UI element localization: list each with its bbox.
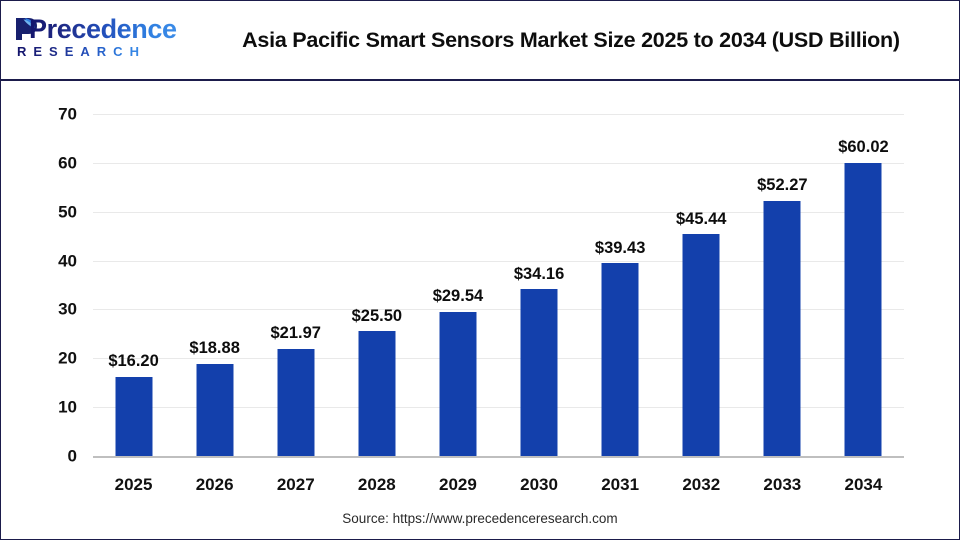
bar[interactable] <box>439 312 476 456</box>
y-axis-tick-20: 20 <box>23 350 77 367</box>
bar-value-label: $18.88 <box>189 340 239 357</box>
bar[interactable] <box>358 331 395 456</box>
bar-group: $29.54 <box>417 312 498 456</box>
y-axis-tick-50: 50 <box>23 203 77 220</box>
bar-value-label: $29.54 <box>433 288 483 305</box>
x-axis-tick-2033: 2033 <box>763 476 801 493</box>
bar[interactable] <box>845 163 882 456</box>
bar-value-label: $34.16 <box>514 266 564 283</box>
y-axis-tick-60: 60 <box>23 154 77 171</box>
bar-group: $21.97 <box>255 349 336 456</box>
x-axis-tick-2025: 2025 <box>115 476 153 493</box>
y-axis-tick-70: 70 <box>23 106 77 123</box>
y-axis-tick-0: 0 <box>23 448 77 465</box>
bar-value-label: $16.20 <box>108 353 158 370</box>
bar-value-label: $60.02 <box>838 139 888 156</box>
plot-area: 010203040506070 $16.202025$18.882026$21.… <box>1 81 959 539</box>
bar-group: $16.20 <box>93 377 174 456</box>
bar-group: $45.44 <box>661 234 742 456</box>
bar-group: $39.43 <box>580 263 661 456</box>
chart-image: Precedence RESEARCH Asia Pacific Smart S… <box>0 0 960 540</box>
bar-value-label: $52.27 <box>757 177 807 194</box>
y-axis: 010203040506070 <box>21 81 77 539</box>
bar-value-label: $39.43 <box>595 240 645 257</box>
bar[interactable] <box>602 263 639 456</box>
x-axis-tick-2034: 2034 <box>845 476 883 493</box>
bar[interactable] <box>115 377 152 456</box>
x-axis-tick-2029: 2029 <box>439 476 477 493</box>
bar-value-label: $21.97 <box>271 325 321 342</box>
bar-group: $25.50 <box>336 331 417 456</box>
bar-series: $16.202025$18.882026$21.972027$25.502028… <box>93 81 904 539</box>
x-axis-tick-2027: 2027 <box>277 476 315 493</box>
logo-wordmark: Precedence <box>29 13 177 45</box>
bar-group: $18.88 <box>174 364 255 456</box>
y-axis-tick-10: 10 <box>23 399 77 416</box>
y-axis-tick-40: 40 <box>23 252 77 269</box>
x-axis-tick-2031: 2031 <box>601 476 639 493</box>
bar[interactable] <box>196 364 233 456</box>
precedence-research-logo: Precedence RESEARCH <box>13 13 173 65</box>
chart-header: Precedence RESEARCH Asia Pacific Smart S… <box>1 1 959 81</box>
bar-value-label: $25.50 <box>352 308 402 325</box>
source-caption: Source: https://www.precedenceresearch.c… <box>1 511 959 526</box>
x-axis-tick-2032: 2032 <box>682 476 720 493</box>
x-axis-tick-2028: 2028 <box>358 476 396 493</box>
bar[interactable] <box>521 289 558 456</box>
chart-title: Asia Pacific Smart Sensors Market Size 2… <box>206 1 936 79</box>
x-axis-tick-2026: 2026 <box>196 476 234 493</box>
logo-subtitle: RESEARCH <box>17 44 146 60</box>
bar[interactable] <box>764 201 801 456</box>
bar-value-label: $45.44 <box>676 211 726 228</box>
bar[interactable] <box>683 234 720 456</box>
bar-group: $34.16 <box>499 289 580 456</box>
bar-group: $52.27 <box>742 201 823 456</box>
bar[interactable] <box>277 349 314 456</box>
y-axis-tick-30: 30 <box>23 301 77 318</box>
bar-group: $60.02 <box>823 163 904 456</box>
x-axis-tick-2030: 2030 <box>520 476 558 493</box>
